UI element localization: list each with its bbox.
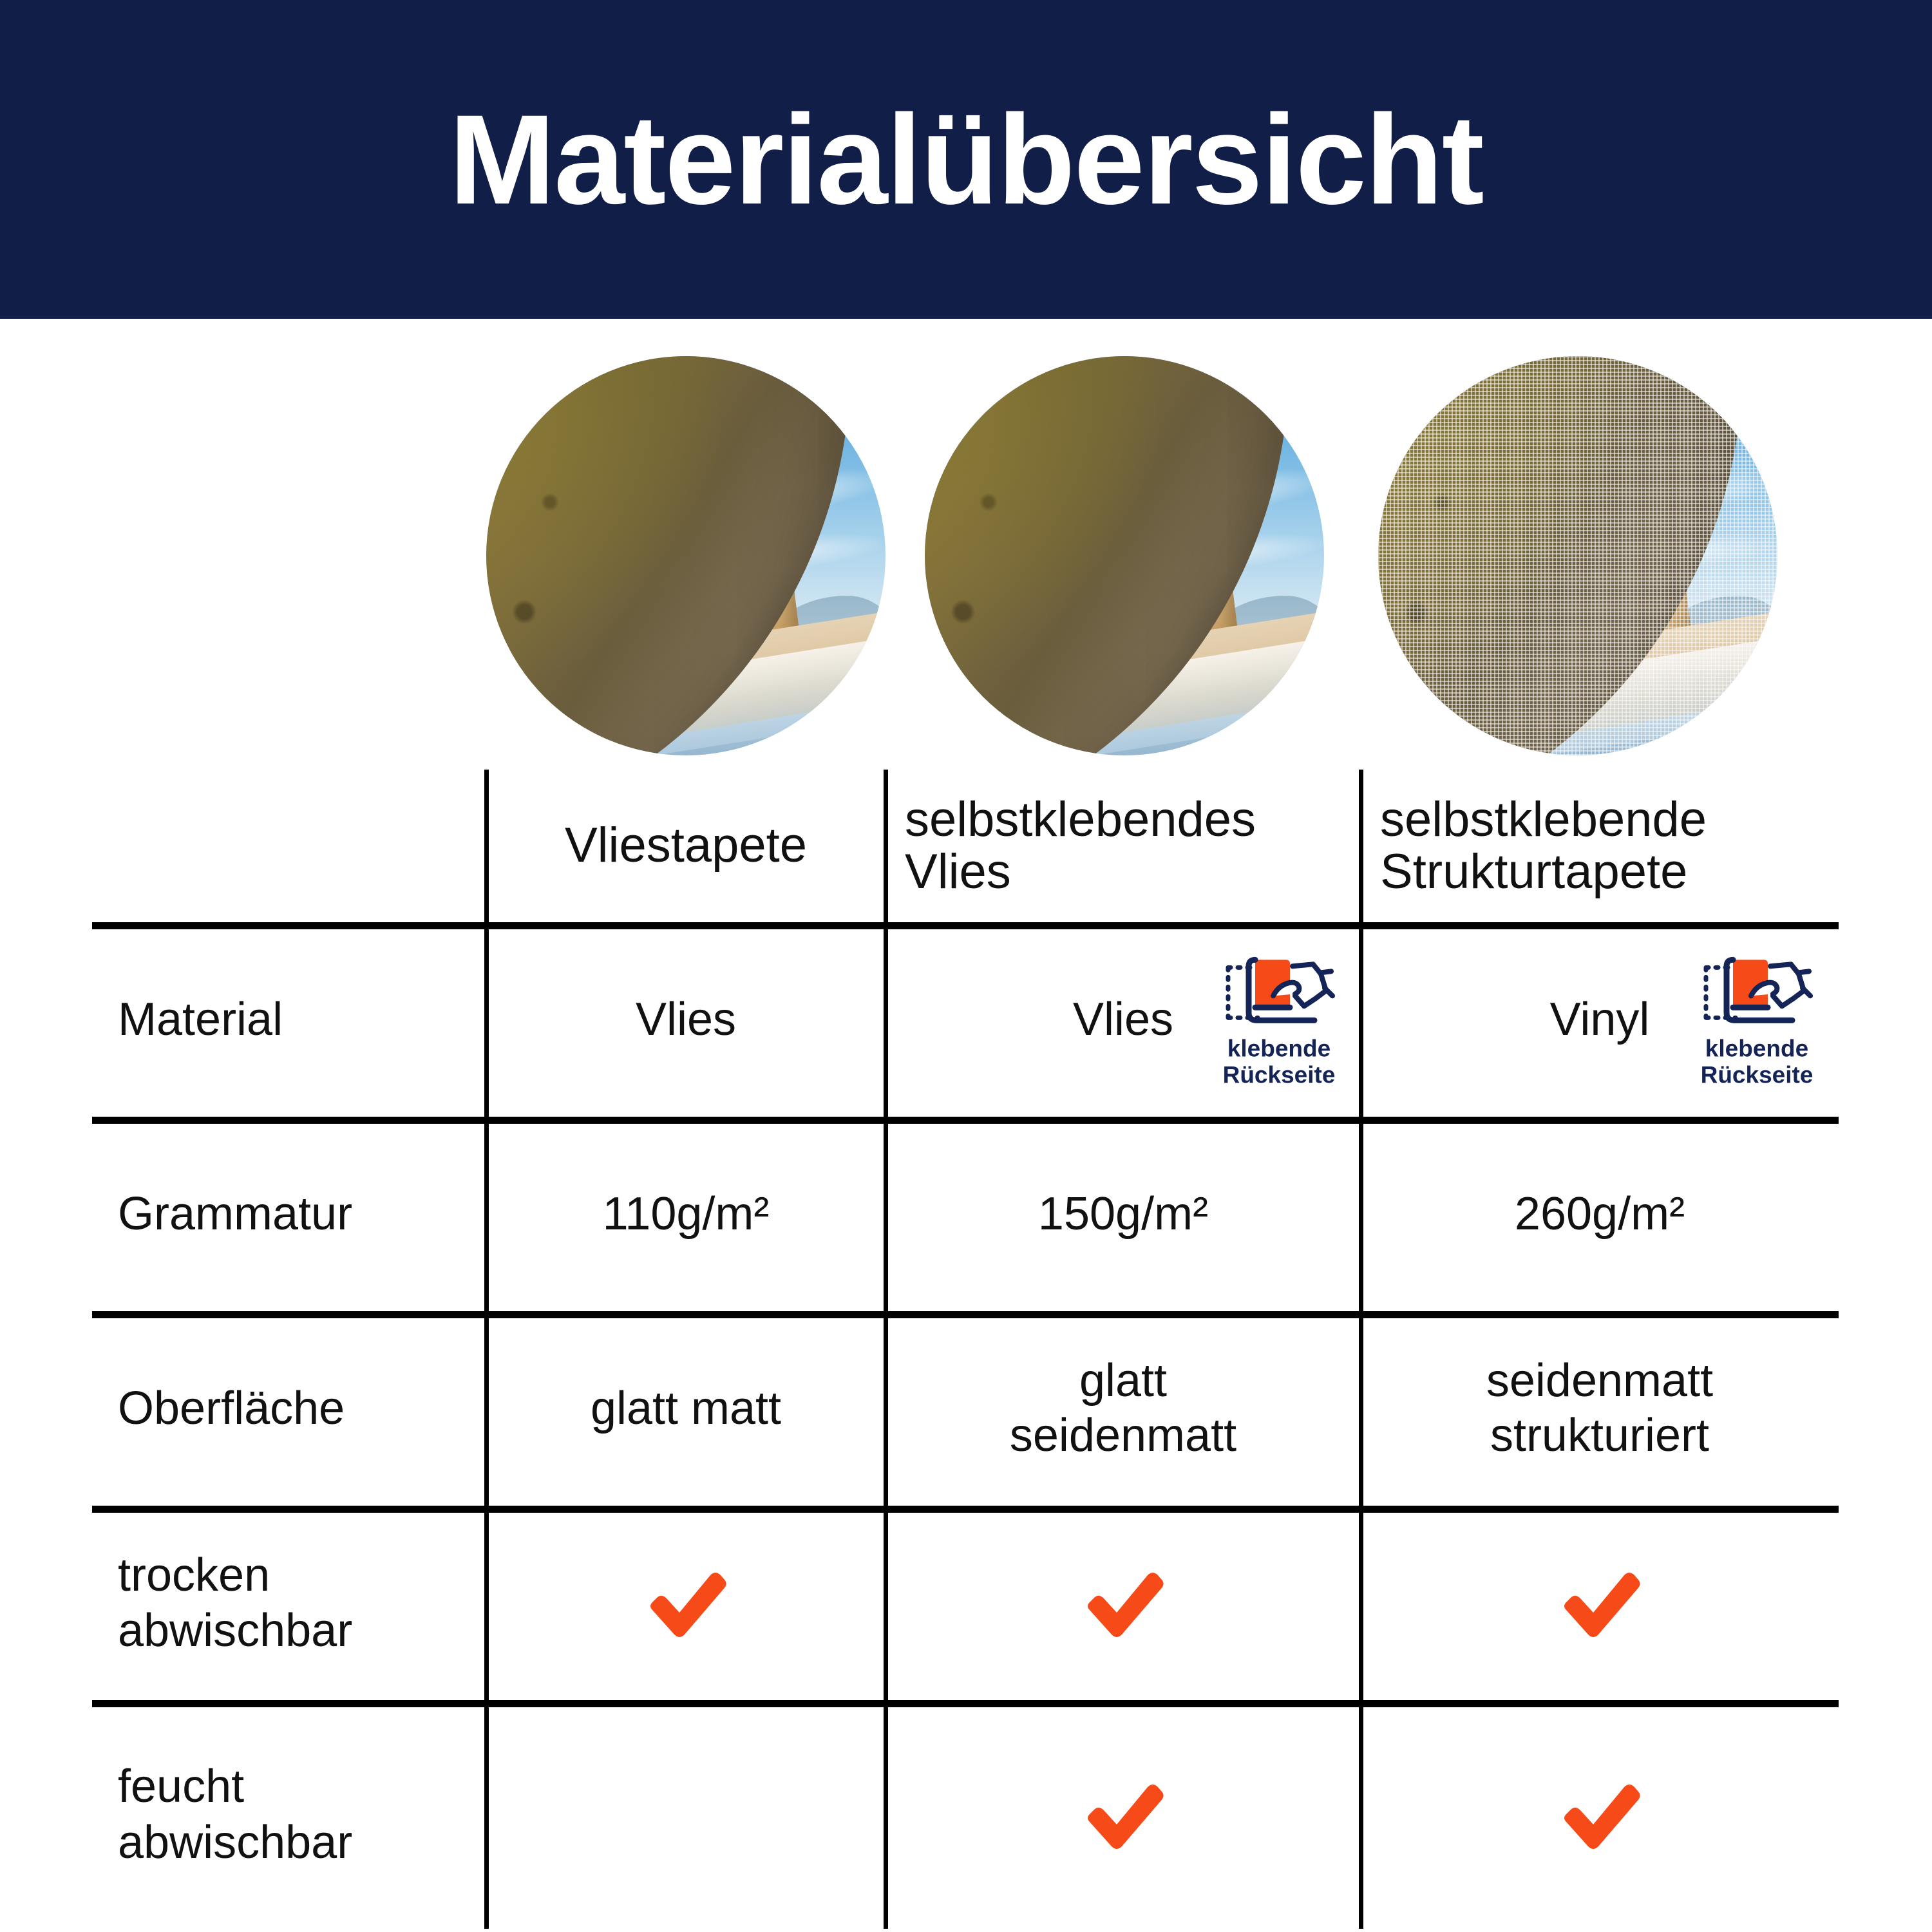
checkmark-icon — [1081, 1565, 1166, 1641]
column-header-label: Vliestapete — [565, 820, 807, 872]
cell-feucht-selbstklebende-strukturtapete — [1361, 1700, 1839, 1929]
cell-value: 110g/m² — [603, 1187, 770, 1242]
adhesive-backing-badge: klebende Rückseite — [1687, 951, 1827, 1088]
cell-value: Vinyl — [1550, 992, 1650, 1047]
table-header-row: Vliestapete selbstklebendes Vlies selbst… — [92, 770, 1839, 922]
page-header: Materialübersicht — [0, 0, 1932, 319]
cell-value: 150g/m² — [1038, 1187, 1208, 1242]
page-title: Materialübersicht — [449, 96, 1483, 223]
thumbnail-vliestapete[interactable] — [486, 356, 885, 755]
row-label-cell: trocken abwischbar — [92, 1506, 486, 1700]
cell-trocken-selbstklebende-strukturtapete — [1361, 1506, 1839, 1700]
adhesive-badge-line1: klebende — [1227, 1035, 1331, 1061]
cell-feucht-vliestapete — [486, 1700, 885, 1929]
cell-value: glatt seidenmatt — [988, 1354, 1258, 1463]
cell-oberflaeche-selbstklebendes-vlies: glatt seidenmatt — [885, 1311, 1361, 1506]
row-label: Grammatur — [118, 1186, 352, 1242]
thumbnail-selbstklebende-strukturtapete[interactable] — [1378, 356, 1777, 755]
cell-trocken-vliestapete — [486, 1506, 885, 1700]
column-header-selbstklebende-strukturtapete: selbstklebende Strukturtapete — [1361, 770, 1839, 922]
table-row: Grammatur 110g/m² 150g/m² 260g/m² — [92, 1117, 1839, 1311]
table-corner-cell — [92, 770, 486, 922]
cell-value: glatt matt — [591, 1381, 781, 1436]
cell-value: Vlies — [636, 992, 736, 1047]
row-label: trocken abwischbar — [118, 1548, 427, 1659]
column-header-label: selbstklebendes Vlies — [885, 794, 1361, 898]
row-label-cell: Material — [92, 922, 486, 1117]
table-row: trocken abwischbar — [92, 1506, 1839, 1700]
table-row: feucht abwischbar — [92, 1700, 1839, 1929]
row-label: Oberfläche — [118, 1381, 345, 1436]
row-label: Material — [118, 992, 283, 1047]
cell-trocken-selbstklebendes-vlies — [885, 1506, 1361, 1700]
row-label: feucht abwischbar — [118, 1759, 427, 1870]
coastal-scene-image — [925, 356, 1324, 755]
table-row: Oberfläche glatt matt glatt seidenmatt s… — [92, 1311, 1839, 1506]
coastal-scene-image — [1378, 356, 1777, 755]
checkmark-icon — [1557, 1777, 1642, 1853]
thumbnail-row — [0, 356, 1932, 755]
cell-value: 260g/m² — [1515, 1187, 1685, 1242]
cell-oberflaeche-selbstklebende-strukturtapete: seidenmatt strukturiert — [1361, 1311, 1839, 1506]
cell-grammatur-selbstklebendes-vlies: 150g/m² — [885, 1117, 1361, 1311]
cell-value: Vlies — [1073, 992, 1173, 1047]
adhesive-badge-line1: klebende — [1705, 1035, 1808, 1061]
cell-feucht-selbstklebendes-vlies — [885, 1700, 1361, 1929]
adhesive-badge-line2: Rückseite — [1701, 1061, 1814, 1088]
thumbnail-selbstklebendes-vlies[interactable] — [925, 356, 1324, 755]
coastal-scene-image — [486, 356, 885, 755]
adhesive-badge-text: klebende Rückseite — [1701, 1036, 1814, 1088]
material-overview-page: Materialübersicht — [0, 0, 1932, 1932]
adhesive-backing-badge: klebende Rückseite — [1209, 951, 1349, 1088]
column-header-selbstklebendes-vlies: selbstklebendes Vlies — [885, 770, 1361, 922]
checkmark-icon — [1557, 1565, 1642, 1641]
row-label-cell: Grammatur — [92, 1117, 486, 1311]
empty-cell-marker — [643, 1777, 728, 1853]
checkmark-icon — [1081, 1777, 1166, 1853]
cell-material-selbstklebendes-vlies: Vlies klebende — [885, 922, 1361, 1117]
cell-grammatur-selbstklebende-strukturtapete: 260g/m² — [1361, 1117, 1839, 1311]
row-label-cell: feucht abwischbar — [92, 1700, 486, 1929]
cell-oberflaeche-vliestapete: glatt matt — [486, 1311, 885, 1506]
cell-grammatur-vliestapete: 110g/m² — [486, 1117, 885, 1311]
adhesive-badge-text: klebende Rückseite — [1223, 1036, 1336, 1088]
adhesive-badge-line2: Rückseite — [1223, 1061, 1336, 1088]
cell-material-selbstklebende-strukturtapete: Vinyl klebende — [1361, 922, 1839, 1117]
table-row: Material Vlies Vlies — [92, 922, 1839, 1117]
cell-value: seidenmatt strukturiert — [1432, 1354, 1767, 1463]
material-comparison-table: Vliestapete selbstklebendes Vlies selbst… — [92, 770, 1839, 1929]
column-header-label: selbstklebende Strukturtapete — [1361, 794, 1839, 898]
peel-adhesive-backing-icon — [1696, 951, 1818, 1033]
cell-material-vliestapete: Vlies — [486, 922, 885, 1117]
column-header-vliestapete: Vliestapete — [486, 770, 885, 922]
peel-adhesive-backing-icon — [1218, 951, 1340, 1033]
row-label-cell: Oberfläche — [92, 1311, 486, 1506]
checkmark-icon — [643, 1565, 728, 1641]
